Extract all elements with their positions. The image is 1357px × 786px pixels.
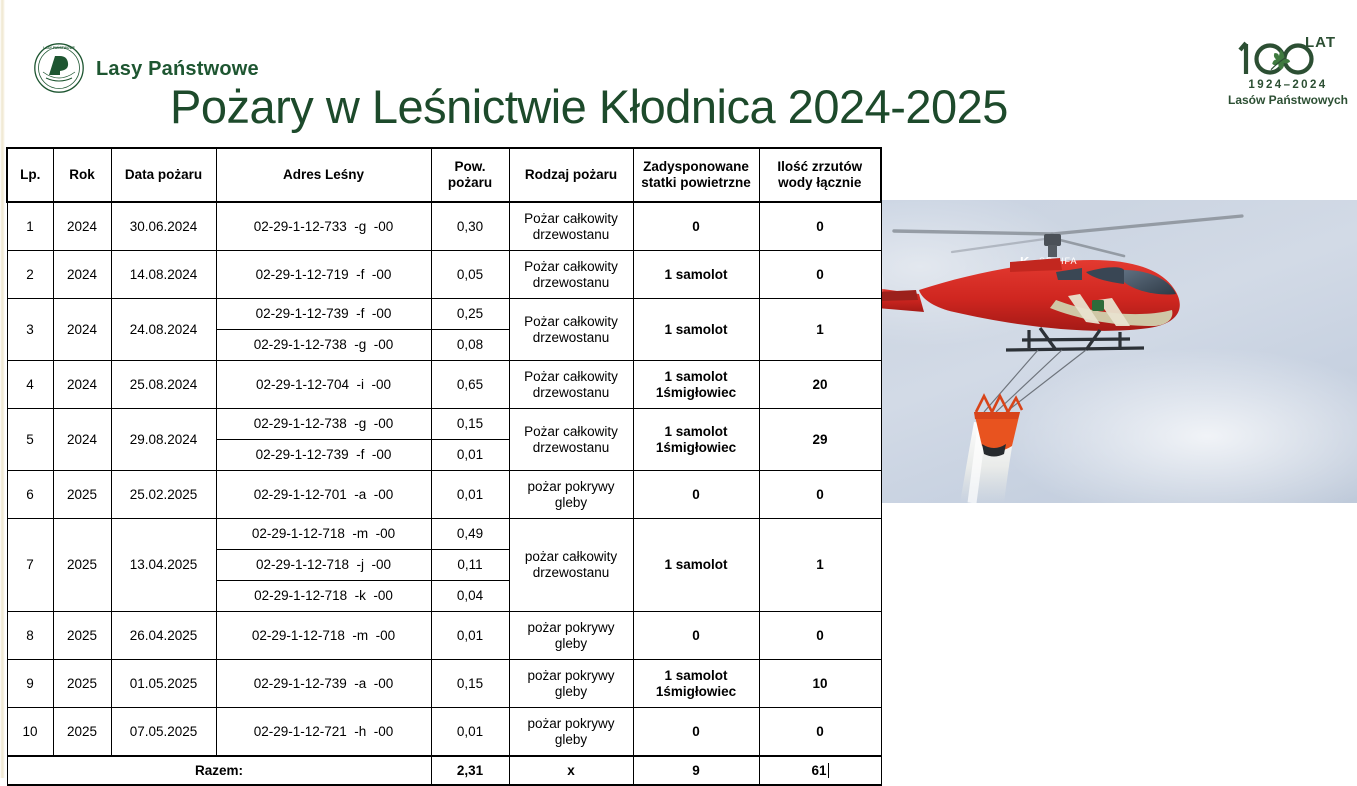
col-header-statki-line1: Zadysponowane: [643, 159, 749, 174]
col-header-zrzuty-line2: wody łącznie: [778, 175, 861, 190]
col-header-pow-pozaru: Pow. pożaru: [431, 148, 509, 202]
cell-pow-pozaru: 0,11: [431, 550, 509, 581]
cell-lp: 9: [7, 660, 53, 708]
cell-lp: 3: [7, 299, 53, 361]
cell-statki-powietrzne: 1 samolot1śmigłowiec: [633, 660, 759, 708]
col-header-adres-lesny: Adres Leśny: [216, 148, 431, 202]
cell-pow-pozaru: 0,01: [431, 612, 509, 660]
cell-statki-powietrzne: 1 samolot: [633, 519, 759, 612]
cell-zrzuty-wody: 0: [759, 251, 881, 299]
total-zrzuty-value: 61: [811, 763, 826, 778]
cell-rodzaj-pozaru: Pożar całkowitydrzewostanu: [509, 361, 633, 409]
table-row: 7202513.04.202502-29-1-12-718 -m -000,49…: [7, 519, 881, 550]
cell-rok: 2025: [53, 660, 111, 708]
cell-adres-lesny: 02-29-1-12-739 -a -00: [216, 660, 431, 708]
cell-statki-powietrzne: 1 samolot: [633, 251, 759, 299]
col-header-zrzuty-line1: Ilość zrzutów: [777, 159, 862, 174]
cell-adres-lesny: 02-29-1-12-738 -g -00: [216, 330, 431, 361]
cell-pow-pozaru: 0,25: [431, 299, 509, 330]
cell-statki-powietrzne: 0: [633, 612, 759, 660]
cell-zrzuty-wody: 0: [759, 202, 881, 251]
table-row: 8202526.04.202502-29-1-12-718 -m -000,01…: [7, 612, 881, 660]
cell-pow-pozaru: 0,15: [431, 409, 509, 440]
table-row: 6202525.02.202502-29-1-12-701 -a -000,01…: [7, 471, 881, 519]
cell-rodzaj-pozaru: pożar pokrywygleby: [509, 612, 633, 660]
cell-zrzuty-wody: 29: [759, 409, 881, 471]
cell-rok: 2025: [53, 708, 111, 757]
cell-pow-pozaru: 0,65: [431, 361, 509, 409]
cell-statki-powietrzne: 0: [633, 202, 759, 251]
cell-rodzaj-pozaru: pożar pokrywygleby: [509, 471, 633, 519]
cell-adres-lesny: 02-29-1-12-718 -m -00: [216, 612, 431, 660]
cell-lp: 2: [7, 251, 53, 299]
svg-text:LASY PAŃSTWOWE: LASY PAŃSTWOWE: [43, 45, 75, 50]
col-header-pow-line2: pożaru: [448, 175, 492, 190]
cell-adres-lesny: 02-29-1-12-704 -i -00: [216, 361, 431, 409]
col-header-zrzuty-wody: Ilość zrzutów wody łącznie: [759, 148, 881, 202]
col-header-pow-line1: Pow.: [454, 159, 485, 174]
cell-rodzaj-pozaru: Pożar całkowitydrzewostanu: [509, 202, 633, 251]
cell-rodzaj-pozaru: Pożar całkowitydrzewostanu: [509, 251, 633, 299]
table-row: 3202424.08.202402-29-1-12-739 -f -000,25…: [7, 299, 881, 330]
cell-rok: 2024: [53, 202, 111, 251]
cell-rok: 2024: [53, 361, 111, 409]
cell-pow-pozaru: 0,05: [431, 251, 509, 299]
table-header-row: Lp. Rok Data pożaru Adres Leśny Pow. poż…: [7, 148, 881, 202]
cell-rok: 2024: [53, 251, 111, 299]
cell-rodzaj-pozaru: Pożar całkowitydrzewostanu: [509, 299, 633, 361]
cell-data-pozaru: 13.04.2025: [111, 519, 216, 612]
text-cursor-caret: [828, 763, 829, 778]
slide-header: LASY PAŃSTWOWE Lasy Państwowe Pożary w L…: [0, 0, 1357, 145]
fires-table: Lp. Rok Data pożaru Adres Leśny Pow. poż…: [6, 147, 880, 786]
cell-adres-lesny: 02-29-1-12-701 -a -00: [216, 471, 431, 519]
total-zrzuty[interactable]: 61: [759, 756, 881, 785]
cell-statki-powietrzne: 1 samolot1śmigłowiec: [633, 361, 759, 409]
cell-pow-pozaru: 0,01: [431, 471, 509, 519]
col-header-rok: Rok: [53, 148, 111, 202]
cell-rodzaj-pozaru: pożar całkowitydrzewostanu: [509, 519, 633, 612]
cell-statki-powietrzne: 1 samolot: [633, 299, 759, 361]
cell-pow-pozaru: 0,04: [431, 581, 509, 612]
cell-zrzuty-wody: 1: [759, 299, 881, 361]
cell-lp: 4: [7, 361, 53, 409]
brand-wordmark: Lasy Państwowe: [96, 58, 259, 81]
table-total-row: Razem: 2,31 x 9 61: [7, 756, 881, 785]
cell-data-pozaru: 24.08.2024: [111, 299, 216, 361]
cell-rodzaj-pozaru: pożar pokrywygleby: [509, 660, 633, 708]
cell-adres-lesny: 02-29-1-12-733 -g -00: [216, 202, 431, 251]
cell-rok: 2025: [53, 519, 111, 612]
svg-text:LAT: LAT: [1305, 34, 1336, 51]
cell-adres-lesny: 02-29-1-12-718 -m -00: [216, 519, 431, 550]
cell-data-pozaru: 29.08.2024: [111, 409, 216, 471]
cell-statki-powietrzne: 1 samolot1śmigłowiec: [633, 409, 759, 471]
100-lat-anniversary-logo: LAT 1924–2024 Lasów Państwowych: [1228, 28, 1348, 110]
cell-lp: 8: [7, 612, 53, 660]
table-row: 9202501.05.202502-29-1-12-739 -a -000,15…: [7, 660, 881, 708]
page-title: Pożary w Leśnictwie Kłodnica 2024-2025: [170, 79, 1150, 134]
cell-data-pozaru: 25.02.2025: [111, 471, 216, 519]
total-statki: 9: [633, 756, 759, 785]
cell-pow-pozaru: 0,30: [431, 202, 509, 251]
cell-pow-pozaru: 0,49: [431, 519, 509, 550]
cell-rodzaj-pozaru: pożar pokrywygleby: [509, 708, 633, 757]
cell-statki-powietrzne: 0: [633, 708, 759, 757]
table-row: 5202429.08.202402-29-1-12-738 -g -000,15…: [7, 409, 881, 440]
cell-rok: 2024: [53, 409, 111, 471]
cell-adres-lesny: 02-29-1-12-718 -j -00: [216, 550, 431, 581]
cell-data-pozaru: 07.05.2025: [111, 708, 216, 757]
cell-adres-lesny: 02-29-1-12-718 -k -00: [216, 581, 431, 612]
cell-pow-pozaru: 0,01: [431, 440, 509, 471]
cell-zrzuty-wody: 10: [759, 660, 881, 708]
cell-data-pozaru: 26.04.2025: [111, 612, 216, 660]
col-header-statki-powietrzne: Zadysponowane statki powietrzne: [633, 148, 759, 202]
cell-lp: 1: [7, 202, 53, 251]
svg-text:Lasów Państwowych: Lasów Państwowych: [1228, 93, 1348, 107]
cell-rodzaj-pozaru: Pożar całkowitydrzewostanu: [509, 409, 633, 471]
cell-adres-lesny: 02-29-1-12-739 -f -00: [216, 299, 431, 330]
col-header-data-pozaru: Data pożaru: [111, 148, 216, 202]
cell-rok: 2025: [53, 612, 111, 660]
table-row: 4202425.08.202402-29-1-12-704 -i -000,65…: [7, 361, 881, 409]
cell-lp: 6: [7, 471, 53, 519]
cell-zrzuty-wody: 0: [759, 471, 881, 519]
table-body: 1202430.06.202402-29-1-12-733 -g -000,30…: [7, 202, 881, 756]
cell-pow-pozaru: 0,08: [431, 330, 509, 361]
table-row: 10202507.05.202502-29-1-12-721 -h -000,0…: [7, 708, 881, 757]
cell-adres-lesny: 02-29-1-12-738 -g -00: [216, 409, 431, 440]
table-row: 2202414.08.202402-29-1-12-719 -f -000,05…: [7, 251, 881, 299]
cell-zrzuty-wody: 1: [759, 519, 881, 612]
cell-data-pozaru: 14.08.2024: [111, 251, 216, 299]
cell-rok: 2024: [53, 299, 111, 361]
total-label: Razem:: [7, 756, 431, 785]
cell-lp: 7: [7, 519, 53, 612]
cell-adres-lesny: 02-29-1-12-721 -h -00: [216, 708, 431, 757]
cell-pow-pozaru: 0,15: [431, 660, 509, 708]
col-header-rodzaj-pozaru: Rodzaj pożaru: [509, 148, 633, 202]
col-header-lp: Lp.: [7, 148, 53, 202]
table-row: 1202430.06.202402-29-1-12-733 -g -000,30…: [7, 202, 881, 251]
firefighting-helicopter-photo: SP-HFA K: [824, 200, 1357, 503]
cell-lp: 10: [7, 708, 53, 757]
total-pow: 2,31: [431, 756, 509, 785]
cell-data-pozaru: 30.06.2024: [111, 202, 216, 251]
total-rodzaj: x: [509, 756, 633, 785]
svg-text:1924–2024: 1924–2024: [1248, 79, 1327, 91]
cell-pow-pozaru: 0,01: [431, 708, 509, 757]
cell-lp: 5: [7, 409, 53, 471]
cell-adres-lesny: 02-29-1-12-739 -f -00: [216, 440, 431, 471]
cell-rok: 2025: [53, 471, 111, 519]
lasy-panstwowe-seal-icon: LASY PAŃSTWOWE: [33, 42, 85, 94]
cell-data-pozaru: 01.05.2025: [111, 660, 216, 708]
cell-zrzuty-wody: 0: [759, 708, 881, 757]
cell-adres-lesny: 02-29-1-12-719 -f -00: [216, 251, 431, 299]
cell-zrzuty-wody: 20: [759, 361, 881, 409]
cell-zrzuty-wody: 0: [759, 612, 881, 660]
cell-data-pozaru: 25.08.2024: [111, 361, 216, 409]
cell-statki-powietrzne: 0: [633, 471, 759, 519]
helicopter-illustration: SP-HFA K: [824, 200, 1357, 503]
col-header-statki-line2: statki powietrzne: [641, 175, 751, 190]
